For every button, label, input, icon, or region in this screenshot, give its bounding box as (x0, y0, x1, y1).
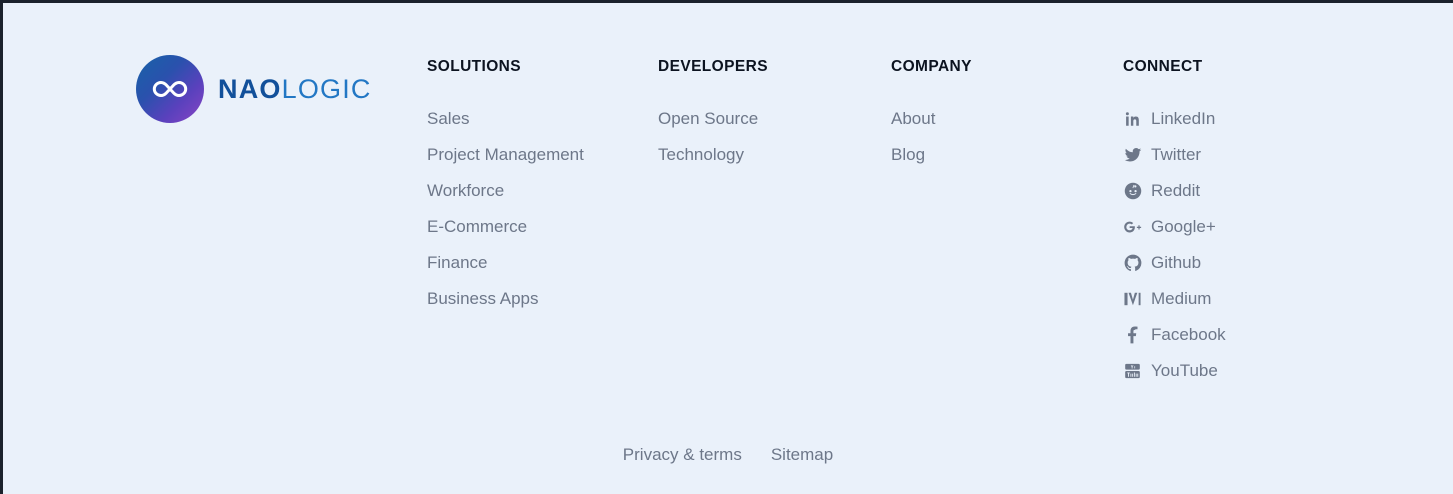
list-item: Sales (427, 109, 584, 145)
list-item: Open Source (658, 109, 768, 145)
column-title: DEVELOPERS (658, 59, 768, 75)
brand-logo[interactable]: NAOLOGIC (136, 55, 372, 123)
social-link-label: Google+ (1151, 217, 1216, 237)
footer-link-open-source[interactable]: Open Source (658, 109, 758, 129)
list-item: About (891, 109, 972, 145)
site-footer: NAOLOGIC SOLUTIONS Sales Project Managem… (0, 0, 1453, 494)
list-item: Business Apps (427, 289, 584, 325)
social-link-label: Github (1151, 253, 1201, 273)
list-item: Github (1123, 253, 1226, 289)
social-link-reddit[interactable]: Reddit (1123, 181, 1226, 201)
legal-link-privacy-terms[interactable]: Privacy & terms (623, 444, 742, 466)
github-icon (1123, 253, 1142, 272)
column-title: CONNECT (1123, 59, 1226, 75)
footer-link-e-commerce[interactable]: E-Commerce (427, 217, 527, 237)
legal-link-sitemap[interactable]: Sitemap (771, 444, 833, 466)
list-item: Blog (891, 145, 972, 181)
social-link-label: LinkedIn (1151, 109, 1215, 129)
social-link-facebook[interactable]: Facebook (1123, 325, 1226, 345)
social-link-medium[interactable]: Medium (1123, 289, 1226, 309)
footer-link-blog[interactable]: Blog (891, 145, 925, 165)
column-link-list: Open Source Technology (658, 109, 768, 181)
social-link-github[interactable]: Github (1123, 253, 1226, 273)
list-item: Project Management (427, 145, 584, 181)
social-link-twitter[interactable]: Twitter (1123, 145, 1226, 165)
social-link-label: Reddit (1151, 181, 1200, 201)
list-item: LinkedIn (1123, 109, 1226, 145)
list-item: Technology (658, 145, 768, 181)
footer-link-finance[interactable]: Finance (427, 253, 487, 273)
list-item: Finance (427, 253, 584, 289)
footer-legal-bar: Privacy & terms Sitemap (3, 444, 1453, 466)
brand-wordmark: NAOLOGIC (218, 76, 372, 103)
list-item: Medium (1123, 289, 1226, 325)
footer-column-company: COMPANY About Blog (891, 59, 972, 181)
social-link-label: Twitter (1151, 145, 1201, 165)
social-link-label: Medium (1151, 289, 1211, 309)
column-link-list: Sales Project Management Workforce E-Com… (427, 109, 584, 325)
column-title: SOLUTIONS (427, 59, 584, 75)
footer-link-project-management[interactable]: Project Management (427, 145, 584, 165)
footer-link-sales[interactable]: Sales (427, 109, 470, 129)
medium-icon (1123, 289, 1142, 308)
linkedin-icon (1123, 109, 1142, 128)
brand-name-light: LOGIC (282, 74, 372, 104)
list-item: Workforce (427, 181, 584, 217)
footer-link-workforce[interactable]: Workforce (427, 181, 504, 201)
footer-link-about[interactable]: About (891, 109, 935, 129)
youtube-icon (1123, 361, 1142, 380)
twitter-icon (1123, 145, 1142, 164)
social-link-linkedin[interactable]: LinkedIn (1123, 109, 1226, 129)
column-link-list: About Blog (891, 109, 972, 181)
column-title: COMPANY (891, 59, 972, 75)
reddit-icon (1123, 181, 1142, 200)
social-link-googleplus[interactable]: Google+ (1123, 217, 1226, 237)
list-item: Reddit (1123, 181, 1226, 217)
list-item: Google+ (1123, 217, 1226, 253)
infinity-icon (136, 55, 204, 123)
footer-column-solutions: SOLUTIONS Sales Project Management Workf… (427, 59, 584, 325)
googleplus-icon (1123, 217, 1142, 236)
social-link-label: YouTube (1151, 361, 1218, 381)
facebook-icon (1123, 325, 1142, 344)
social-link-label: Facebook (1151, 325, 1226, 345)
list-item: E-Commerce (427, 217, 584, 253)
list-item: YouTube (1123, 361, 1226, 397)
footer-column-connect: CONNECT LinkedIn Twitter (1123, 59, 1226, 397)
list-item: Facebook (1123, 325, 1226, 361)
list-item: Twitter (1123, 145, 1226, 181)
footer-link-business-apps[interactable]: Business Apps (427, 289, 539, 309)
social-link-youtube[interactable]: YouTube (1123, 361, 1226, 381)
brand-name-bold: NAO (218, 74, 282, 104)
footer-link-technology[interactable]: Technology (658, 145, 744, 165)
social-link-list: LinkedIn Twitter (1123, 109, 1226, 397)
footer-column-developers: DEVELOPERS Open Source Technology (658, 59, 768, 181)
